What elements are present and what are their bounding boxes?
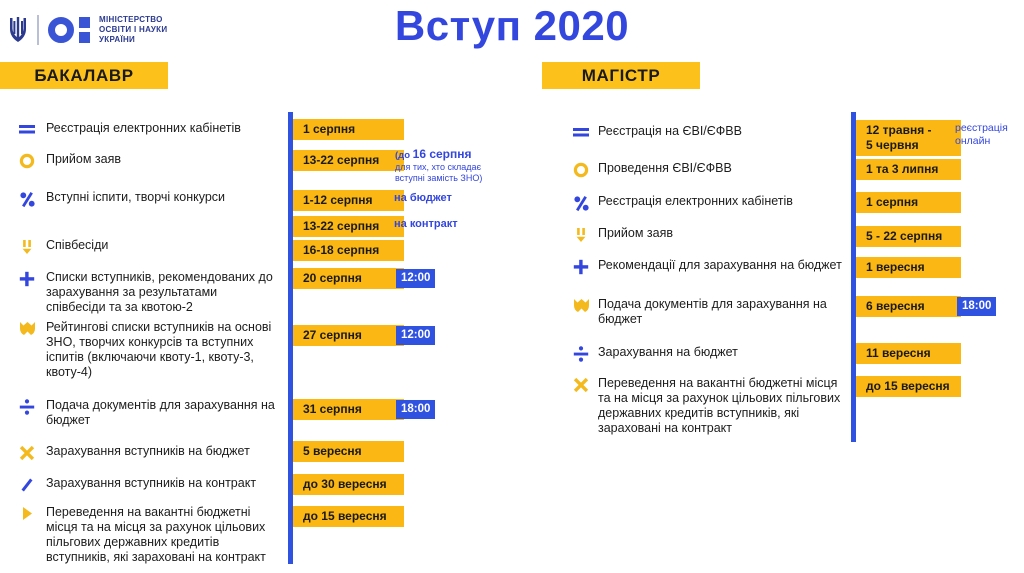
master-item-label: Прийом заяв (598, 226, 846, 241)
bachelor-item-label: Зарахування вступників на контракт (46, 476, 278, 491)
exclaim-icon (570, 227, 592, 243)
master-date-badge: 1 серпня (856, 192, 961, 213)
bachelor-time-badge: 12:00 (396, 269, 435, 288)
bachelor-item-label: Зарахування вступників на бюджет (46, 444, 278, 459)
master-date-badge: до 15 вересня (856, 376, 961, 397)
bachelor-item-label: Вступні іспити, творчі конкурси (46, 190, 278, 205)
master-item-label: Проведення ЄВІ/ЄФВВ (598, 161, 846, 176)
times-icon (16, 445, 38, 461)
circle-icon (570, 162, 592, 178)
bachelor-date-badge: до 15 вересня (293, 506, 404, 527)
master-item-label: Реєстрація електронних кабінетів (598, 194, 846, 209)
master-item-label: Зарахування на бюджет (598, 345, 846, 360)
master-date-badge: 11 вересня (856, 343, 961, 364)
divide-icon (16, 399, 38, 415)
bachelor-item-label: Списки вступників, рекомендованих до зар… (46, 270, 278, 315)
bachelor-date-badge: 16-18 серпня (293, 240, 404, 261)
play-icon (16, 506, 38, 521)
master-date-badge: 12 травня - 5 червня (856, 120, 961, 156)
bachelor-note: на контракт (394, 218, 458, 231)
bachelor-item-label: Подача документів для зарахування на бюд… (46, 398, 278, 428)
annotation-highlight-line: (до 16 серпня (395, 149, 482, 162)
master-item-label: Подача документів для зарахування на бюд… (598, 297, 846, 327)
bachelor-item-label: Переведення на вакантні бюджетні місця т… (46, 505, 278, 565)
bachelor-date-badge: 13-22 серпня (293, 216, 404, 237)
divide-icon (570, 346, 592, 362)
master-date-badge: 5 - 22 серпня (856, 226, 961, 247)
infographic-page: МІНІСТЕРСТВО ОСВІТИ І НАУКИ УКРАЇНИ Всту… (0, 0, 1024, 573)
section-title-bachelor: БАКАЛАВР (0, 62, 168, 89)
master-time-badge: 18:00 (957, 297, 996, 316)
crown-icon (16, 321, 38, 336)
crown-icon (570, 298, 592, 313)
master-date-badge: 1 вересня (856, 257, 961, 278)
plus-icon (570, 259, 592, 275)
plus-icon (16, 271, 38, 287)
bachelor-date-badge: 13-22 серпня (293, 150, 404, 171)
bachelor-item-label: Співбесіди (46, 238, 278, 253)
percent-icon (16, 191, 38, 208)
master-item-label: Реєстрація на ЄВІ/ЄФВВ (598, 124, 846, 139)
master-date-badge: 1 та 3 липня (856, 159, 961, 180)
bachelor-date-badge: до 30 вересня (293, 474, 404, 495)
master-item-label: Рекомендації для зарахування на бюджет (598, 258, 846, 273)
slash-icon (16, 477, 38, 493)
master-note: реєстрація онлайн (955, 122, 1008, 147)
bachelor-item-label: Рейтингові списки вступників на основі З… (46, 320, 278, 380)
bachelor-date-badge: 31 серпня (293, 399, 404, 420)
page-title: Вступ 2020 (0, 2, 1024, 50)
bachelor-date-badge: 20 серпня (293, 268, 404, 289)
section-title-master: МАГІСТР (542, 62, 700, 89)
bachelor-date-badge: 27 серпня (293, 325, 404, 346)
bachelor-item-label: Реєстрація електронних кабінетів (46, 121, 278, 136)
bachelor-exam-annotation: (до 16 серпнядля тих, хто складає вступн… (395, 149, 482, 185)
equals-icon (570, 125, 592, 139)
percent-icon (570, 195, 592, 212)
master-date-badge: 6 вересня (856, 296, 961, 317)
annotation-body: для тих, хто складає вступні замість ЗНО… (395, 162, 482, 185)
circle-icon (16, 153, 38, 169)
master-item-label: Переведення на вакантні бюджетні місця т… (598, 376, 846, 436)
bachelor-item-label: Прийом заяв (46, 152, 278, 167)
bachelor-date-badge: 1-12 серпня (293, 190, 404, 211)
bachelor-time-badge: 12:00 (396, 326, 435, 345)
bachelor-time-badge: 18:00 (396, 400, 435, 419)
exclaim-icon (16, 239, 38, 255)
bachelor-date-badge: 1 серпня (293, 119, 404, 140)
equals-icon (16, 122, 38, 136)
times-icon (570, 377, 592, 393)
bachelor-date-badge: 5 вересня (293, 441, 404, 462)
bachelor-note: на бюджет (394, 192, 452, 205)
